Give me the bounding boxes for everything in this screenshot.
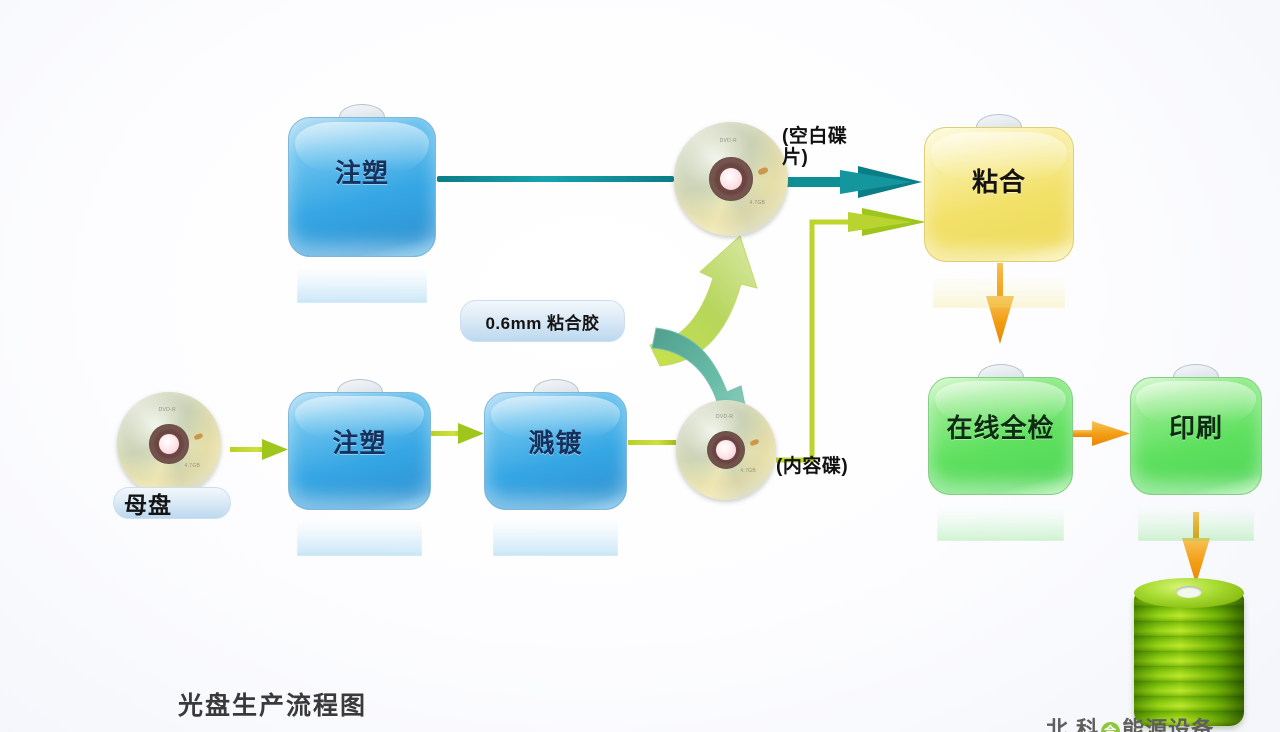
node-reflection [297, 510, 423, 556]
node-label: 注塑 [288, 153, 436, 190]
node-sputtering[interactable]: 溅镀 [484, 392, 627, 510]
disc-face-text-top: DVD-R [159, 407, 176, 413]
node-reflection [1138, 495, 1254, 541]
node-online-inspection[interactable]: 在线全检 [928, 377, 1073, 495]
watermark-badge-icon: 合 [1101, 722, 1120, 732]
node-injection-molding-bottom[interactable]: 注塑 [288, 392, 431, 510]
diagram-caption: 光盘生产流程图 [178, 686, 367, 722]
content-disc-image: DVD-R 4.7GB [676, 400, 776, 500]
label-blank-disc: (空白碟 片) [782, 126, 864, 169]
node-reflection [493, 510, 619, 556]
master-disc-image: DVD-R 4.7GB [117, 392, 221, 496]
label-blank-disc-line1: (空白碟 [782, 126, 864, 147]
disc-face-text-top: DVD-R [716, 414, 733, 420]
disc-center-hub [716, 440, 736, 460]
connector-inspection-to-printing [1073, 421, 1130, 446]
label-master-disc-text: 母盘 [124, 486, 172, 520]
label-bonding-glue-text: 0.6mm 粘合胶 [485, 309, 599, 334]
disc-face-text-bottom: 4.7GB [740, 468, 756, 474]
stack-center-hole [1176, 586, 1202, 598]
node-label: 在线全检 [928, 408, 1073, 445]
disc-face-text-bottom: 4.7GB [185, 463, 201, 469]
blank-disc-image: DVD-R 4.7GB [674, 122, 788, 236]
node-reflection [937, 495, 1065, 541]
watermark-prefix: 北 科 [1046, 717, 1099, 732]
diagram-canvas: 注塑 注塑 溅镀 粘合 在线全检 [0, 0, 1280, 732]
connector-sputtering-to-content-disc [628, 440, 676, 445]
connector-glue-to-blank-disc [650, 236, 757, 366]
connector-layer [0, 0, 1280, 732]
node-reflection [297, 257, 427, 303]
label-content-disc-text: (内容碟) [776, 456, 848, 477]
node-label: 注塑 [288, 423, 431, 460]
node-label: 印刷 [1130, 408, 1262, 445]
label-content-disc: (内容碟) [776, 456, 848, 477]
node-bonding[interactable]: 粘合 [924, 127, 1074, 262]
connector-master-to-injection [230, 439, 288, 460]
connector-content-disc-to-bonding [776, 208, 926, 460]
node-label: 粘合 [924, 162, 1074, 199]
diagram-caption-text: 光盘生产流程图 [178, 692, 367, 720]
watermark-suffix: 能源设备 [1122, 717, 1214, 732]
node-reflection [933, 262, 1065, 308]
disc-face-text-top: DVD-R [720, 138, 737, 144]
node-printing[interactable]: 印刷 [1130, 377, 1262, 495]
label-master-disc: 母盘 [113, 487, 231, 519]
label-blank-disc-line2: 片) [782, 147, 864, 168]
finished-disc-stack [1134, 578, 1244, 726]
node-label: 溅镀 [484, 423, 627, 460]
node-injection-molding-top[interactable]: 注塑 [288, 117, 436, 257]
connector-injection-to-sputtering [431, 423, 484, 444]
stack-body [1134, 592, 1244, 726]
disc-face-text-bottom: 4.7GB [750, 200, 766, 206]
connector-injection-to-blank-disc [437, 176, 674, 182]
watermark: 北 科合能源设备 [1046, 712, 1214, 732]
label-bonding-glue: 0.6mm 粘合胶 [460, 300, 625, 342]
connector-blank-disc-to-bonding [786, 166, 922, 198]
